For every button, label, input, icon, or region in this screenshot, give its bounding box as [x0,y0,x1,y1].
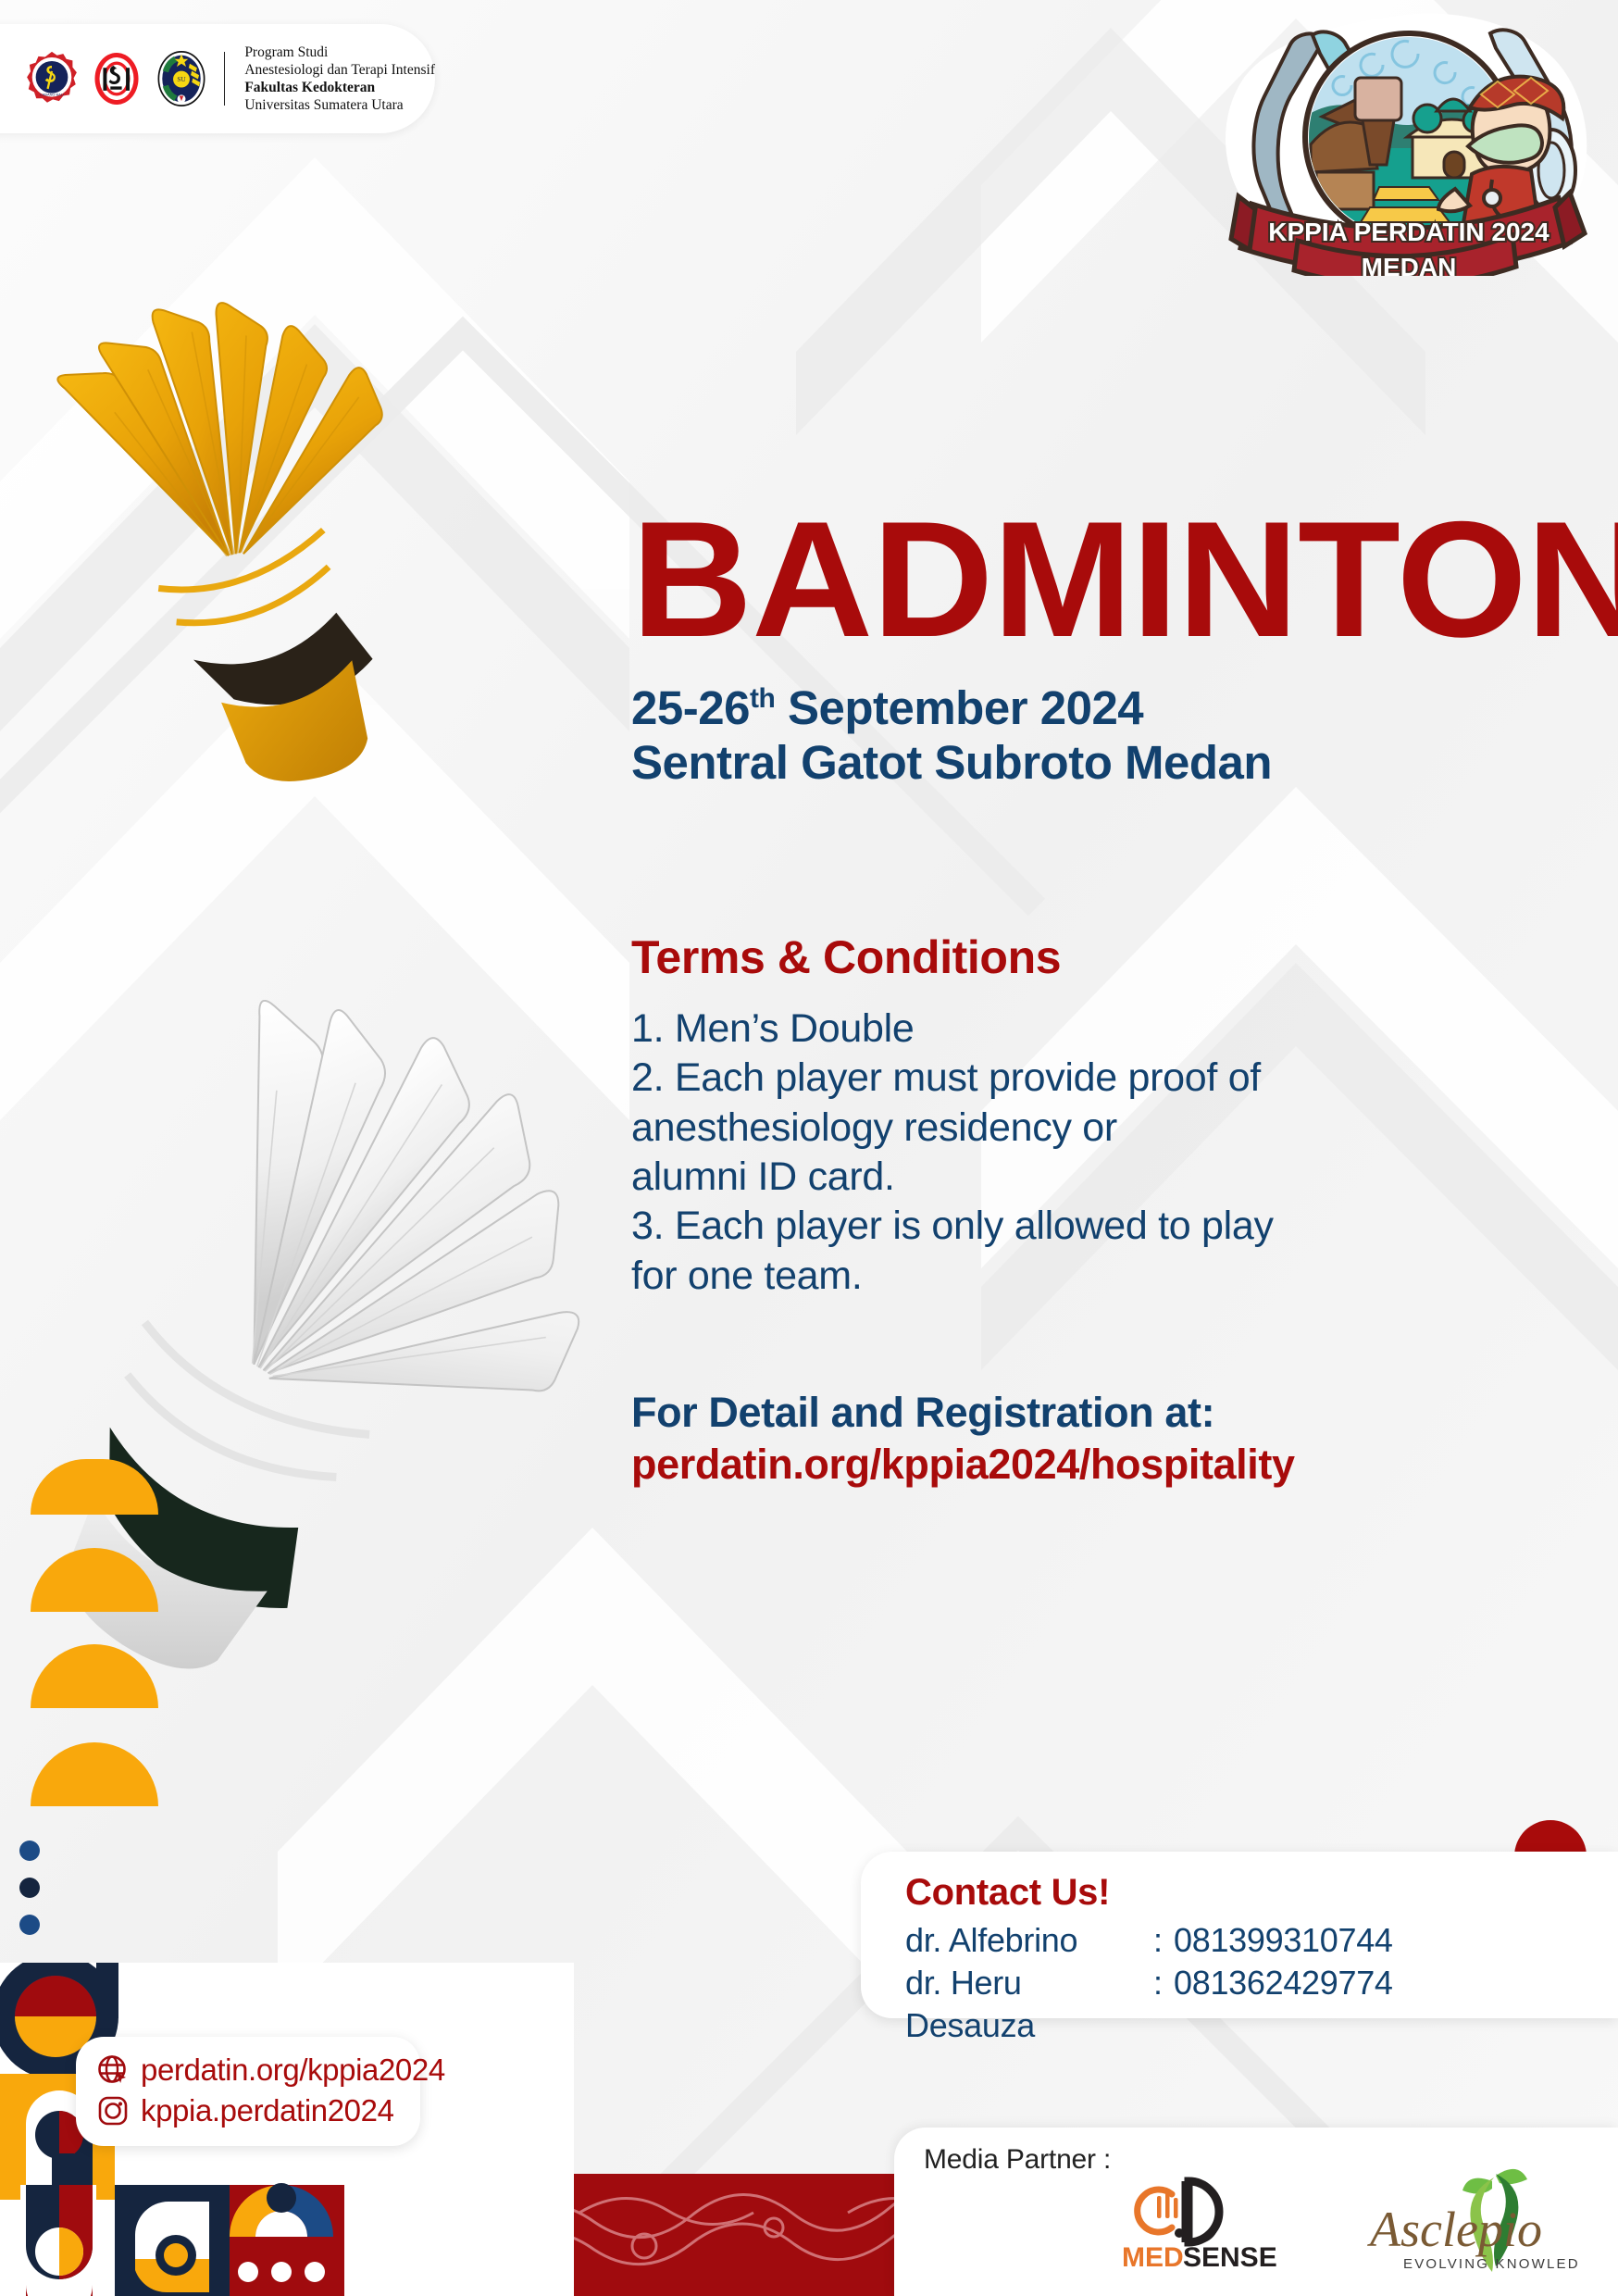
terms-heading: Terms & Conditions [631,930,1520,984]
terms-item: 1. Men’s Double [631,1004,1520,1054]
navy-dot-decor [19,1841,40,1861]
instagram-text: kppia.perdatin2024 [141,2093,394,2128]
social-links-pill: perdatin.org/kppia2024 kppia.perdatin202… [76,2037,420,2146]
contact-name: dr. Heru Desauza [905,1962,1153,2047]
page-title: BADMINTON [631,507,1594,653]
asclepio-wordmark: Asclepio [1367,2202,1542,2257]
medsense-logo: MED SENSE [1116,2170,1348,2272]
contact-phone[interactable]: 081399310744 [1174,1919,1393,1962]
medsense-part1: MED [1122,2242,1184,2272]
website-link[interactable]: perdatin.org/kppia2024 [96,2050,420,2090]
instagram-link[interactable]: kppia.perdatin2024 [96,2090,420,2131]
svg-text:CABANG BALI: CABANG BALI [40,92,64,96]
contact-separator: : [1153,1962,1174,2047]
institution-header-pill: CABANG BALI [0,24,435,133]
poster-canvas: CABANG BALI [0,0,1618,2296]
institution-line-4: Universitas Sumatera Utara [244,96,435,114]
contact-separator: : [1153,1919,1174,1962]
event-date: 25-26th September 2024 [631,680,1575,735]
registration-url[interactable]: perdatin.org/kppia2024/hospitality [631,1441,1557,1489]
medsense-part2: SENSE [1183,2242,1277,2272]
media-partner-logos: MED SENSE Asclepio EVOLVING KNOWLEDGE [1116,2166,1577,2276]
media-partner-card: Media Partner : MED SENSE [894,2128,1618,2296]
terms-item: 3. Each player is only allowed to play f… [631,1202,1520,1301]
event-subtitle: 25-26th September 2024 Sentral Gatot Sub… [631,680,1575,790]
yellow-shuttlecock-image [9,278,444,796]
kppia-event-logo: KPPIA PERDATIN 2024 MEDAN [1198,7,1605,276]
event-logo-banner-top: KPPIA PERDATIN 2024 [1268,218,1550,246]
terms-list: 1. Men’s Double 2. Each player must prov… [631,1004,1520,1301]
registration-section: For Detail and Registration at: perdatin… [631,1389,1557,1489]
usu-seal-icon: SU [156,50,207,107]
terms-item: 2. Each player must provide proof of ane… [631,1054,1520,1202]
registration-label: For Detail and Registration at: [631,1389,1557,1437]
institution-line-1: Program Studi [244,44,435,61]
event-logo-banner-bottom: MEDAN [1362,253,1457,276]
event-venue: Sentral Gatot Subroto Medan [631,735,1575,790]
navy-dot-decor [19,1915,40,1935]
website-text: perdatin.org/kppia2024 [141,2053,445,2088]
perdatin-bali-seal-icon: CABANG BALI [26,50,78,107]
asclepio-logo: Asclepio EVOLVING KNOWLEDGE [1364,2166,1577,2276]
institution-line-3: Fakultas Kedokteran [244,79,435,96]
contact-card: Contact Us! dr. Alfebrino : 081399310744… [861,1852,1618,2018]
event-date-rest: September 2024 [775,681,1143,734]
title-block: BADMINTON 25-26th September 2024 Sentral… [631,507,1575,790]
idi-seal-icon [91,50,143,107]
institution-line-2: Anestesiologi dan Terapi Intensif [244,61,435,79]
contact-name: dr. Alfebrino [905,1919,1153,1962]
terms-section: Terms & Conditions 1. Men’s Double 2. Ea… [631,930,1520,1301]
asclepio-tagline: EVOLVING KNOWLEDGE [1403,2256,1577,2272]
svg-text:SU: SU [177,76,186,83]
navy-dot-decor [19,1878,40,1898]
globe-icon [96,2053,130,2087]
institution-text: Program Studi Anestesiologi dan Terapi I… [244,44,435,114]
contact-phone[interactable]: 081362429774 [1174,1962,1393,2047]
contact-row: dr. Alfebrino : 081399310744 [905,1919,1618,1962]
contact-row: dr. Heru Desauza : 081362429774 [905,1962,1618,2047]
instagram-icon [96,2094,130,2128]
contact-heading: Contact Us! [905,1872,1618,1914]
event-date-ordinal: th [750,683,775,714]
event-date-days: 25-26 [631,681,750,734]
